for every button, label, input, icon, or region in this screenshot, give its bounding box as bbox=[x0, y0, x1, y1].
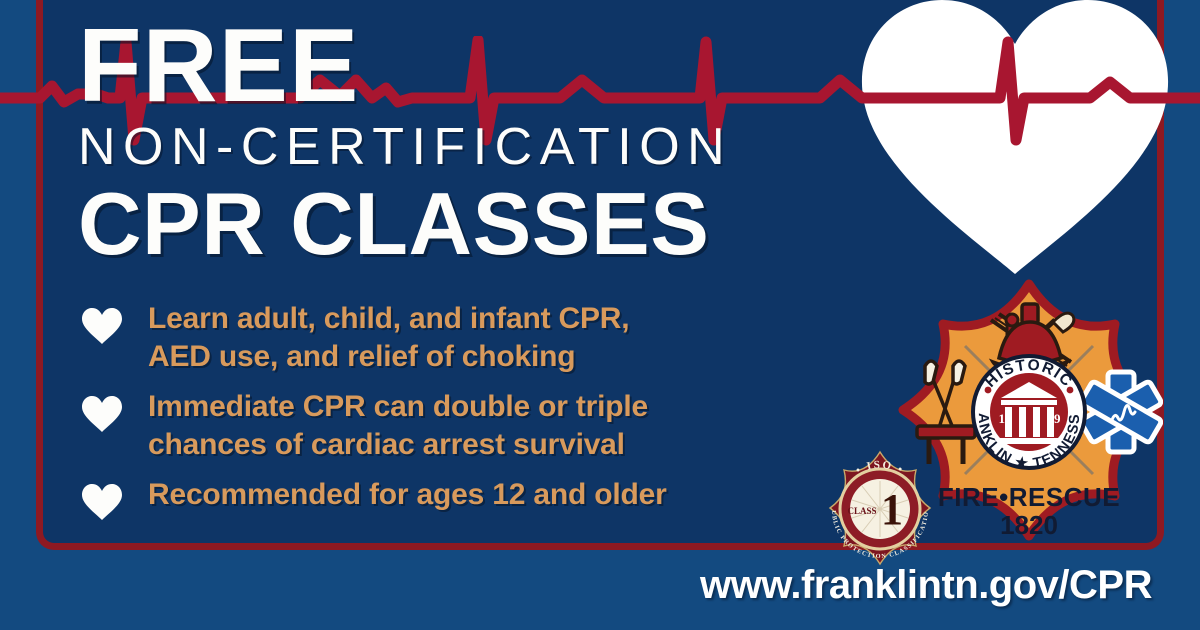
heart-icon bbox=[80, 306, 124, 346]
benefits-list: Learn adult, child, and infant CPR, AED … bbox=[80, 300, 840, 533]
heart-icon bbox=[80, 394, 124, 434]
title-free: FREE bbox=[78, 18, 908, 116]
list-item-line-2: chances of cardiac arrest survival bbox=[148, 426, 648, 464]
list-item: Recommended for ages 12 and older bbox=[80, 476, 840, 522]
badge-banner-year: 1820 bbox=[1000, 510, 1058, 540]
franklin-fire-rescue-badge: 17 99 HISTORIC FRANKLIN ★ TENNESSEE FIRE… bbox=[895, 278, 1163, 564]
list-item: Immediate CPR can double or triple chanc… bbox=[80, 388, 840, 465]
list-item: Learn adult, child, and infant CPR, AED … bbox=[80, 300, 840, 377]
website-url[interactable]: www.franklintn.gov/CPR bbox=[700, 563, 1152, 608]
heart-icon bbox=[80, 482, 124, 522]
seal-year-right: 99 bbox=[1048, 411, 1062, 426]
list-item-text: Recommended for ages 12 and older bbox=[148, 476, 667, 514]
iso-class-label: CLASS bbox=[847, 506, 876, 516]
seal-year-left: 17 bbox=[999, 411, 1013, 426]
list-item-text: Learn adult, child, and infant CPR, AED … bbox=[148, 300, 629, 377]
headline-block: FREE NON-CERTIFICATION CPR CLASSES bbox=[78, 18, 908, 268]
list-item-line-2: AED use, and relief of choking bbox=[148, 338, 629, 376]
cpr-class-poster: FREE NON-CERTIFICATION CPR CLASSES Learn… bbox=[0, 0, 1200, 630]
list-item-line-1: Immediate CPR can double or triple bbox=[148, 388, 648, 426]
list-item-line-1: Learn adult, child, and infant CPR, bbox=[148, 300, 629, 338]
star-of-life-icon bbox=[1080, 372, 1162, 452]
title-non-certification: NON-CERTIFICATION bbox=[78, 118, 908, 178]
title-cpr-classes: CPR CLASSES bbox=[78, 180, 908, 268]
list-item-line-1: Recommended for ages 12 and older bbox=[148, 476, 667, 514]
list-item-text: Immediate CPR can double or triple chanc… bbox=[148, 388, 648, 465]
badge-banner-text: FIRE•RESCUE bbox=[938, 482, 1120, 512]
